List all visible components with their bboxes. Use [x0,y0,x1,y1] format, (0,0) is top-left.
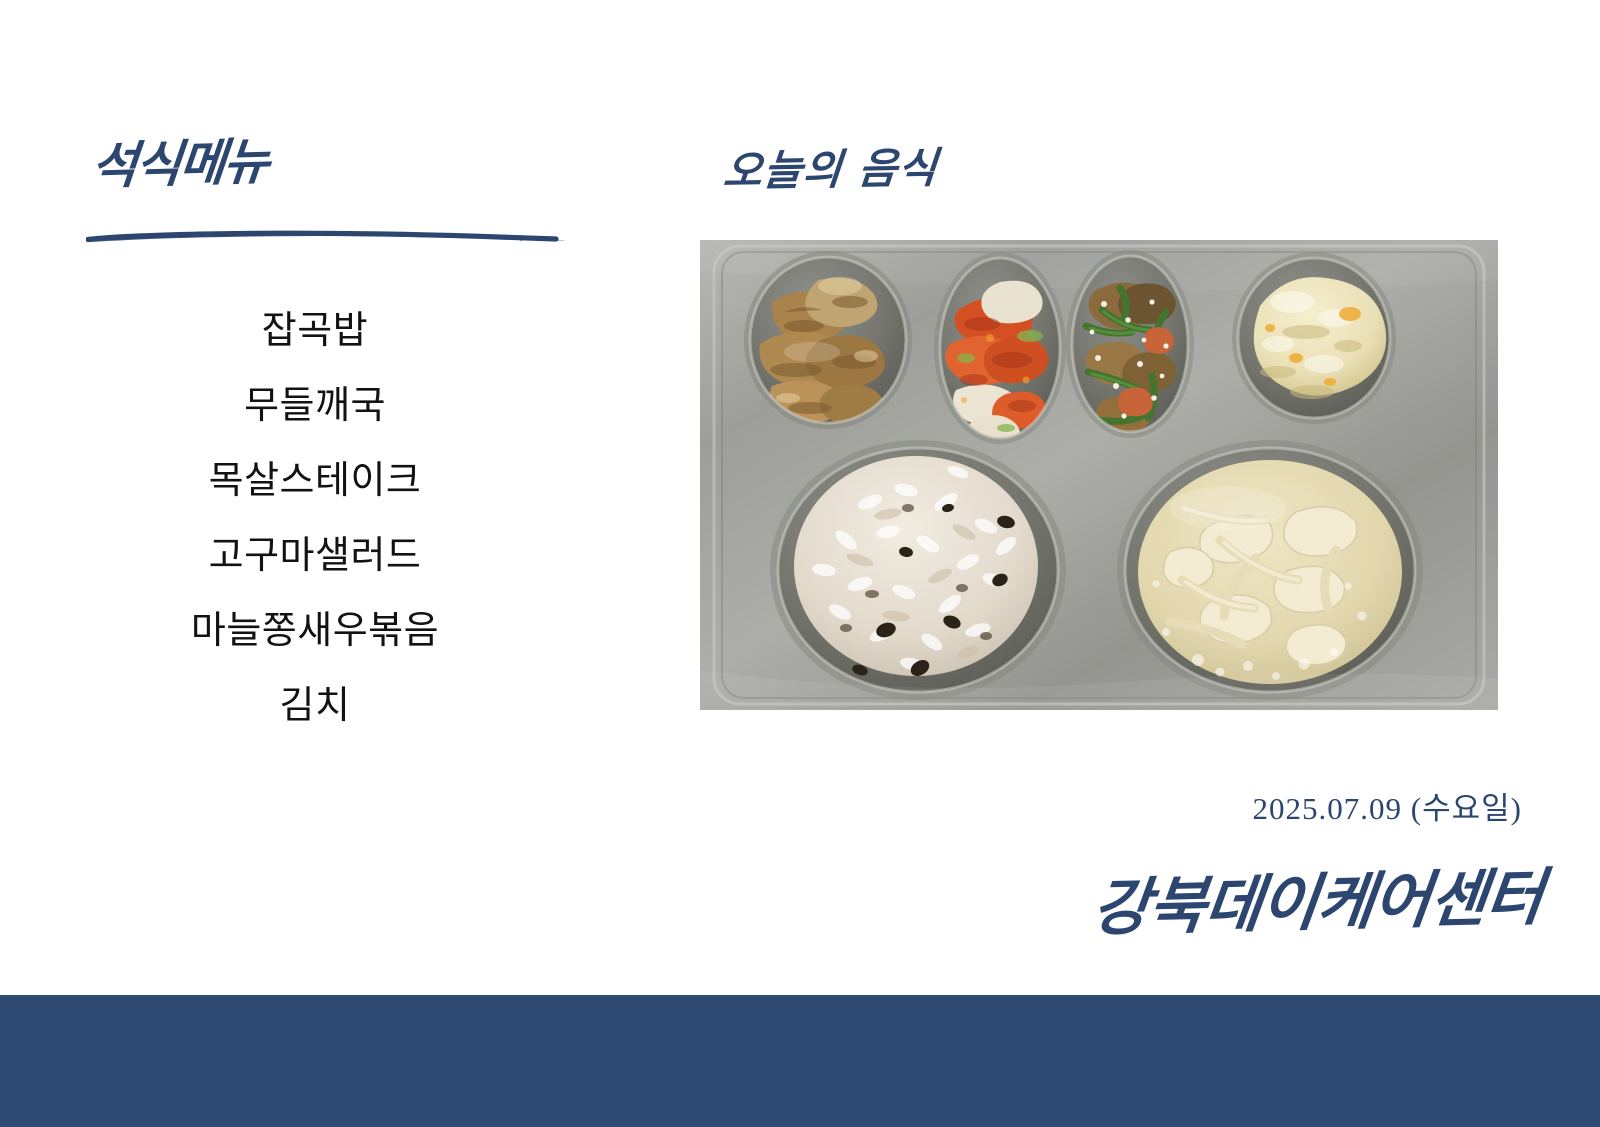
menu-item: 고구마샐러드 [30,537,600,575]
food-tray-photo [700,240,1498,710]
menu-item: 무들깨국 [30,387,600,425]
brand-signature: 강북데이케어센터 [1088,847,1548,948]
menu-poster: 석식메뉴 잡곡밥 무들깨국 목살스테이크 고구마샐러드 마늘쫑새우볶음 김치 오… [0,0,1600,1127]
page-title: 석식메뉴 [88,122,271,199]
menu-item: 마늘쫑새우볶음 [30,612,600,650]
menu-item: 목살스테이크 [30,462,600,500]
photo-caption-title: 오늘의 음식 [721,134,941,199]
menu-date: 2025.07.09 (수요일) [1253,783,1522,828]
menu-item: 잡곡밥 [30,312,600,350]
footer-bar [0,995,1600,1127]
brush-stroke-icon [86,228,566,244]
food-tray-illustration [700,240,1498,710]
menu-item: 김치 [30,687,600,725]
brush-underline-decoration [86,228,566,244]
menu-list: 잡곡밥 무들깨국 목살스테이크 고구마샐러드 마늘쫑새우볶음 김치 [30,312,600,725]
